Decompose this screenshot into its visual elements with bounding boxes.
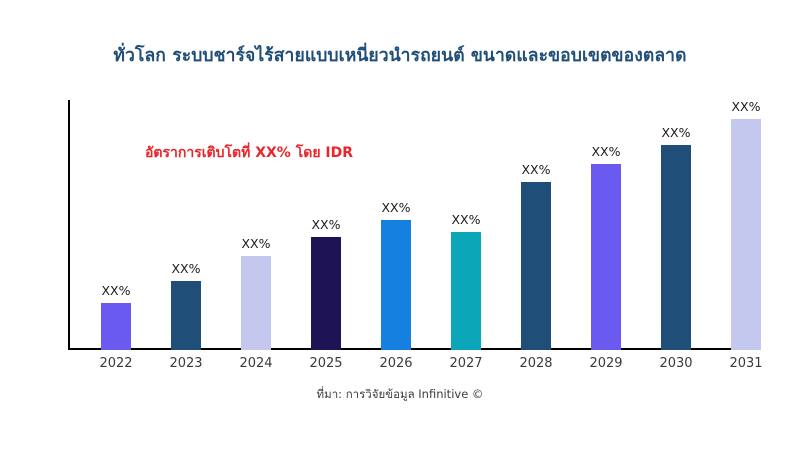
bar-value-label-2029: XX% [575, 144, 637, 159]
bar-2025[interactable] [311, 237, 341, 350]
plot-area: XX%XX%XX%XX%XX%XX%XX%XX%XX%XX% [68, 100, 735, 350]
bar-group: XX% [591, 100, 621, 350]
x-tick-label-2025: 2025 [295, 356, 357, 371]
bar-value-label-2031: XX% [715, 99, 777, 114]
x-tick-label-2029: 2029 [575, 356, 637, 371]
bar-value-label-2027: XX% [435, 212, 497, 227]
bar-2028[interactable] [521, 182, 551, 350]
source-note: ที่มา: การวิจัยข้อมูล Infinitive © [0, 386, 800, 404]
x-tick-label-2026: 2026 [365, 356, 427, 371]
bar-value-label-2026: XX% [365, 200, 427, 215]
bar-2031[interactable] [731, 119, 761, 350]
x-tick-label-2028: 2028 [505, 356, 567, 371]
bar-2024[interactable] [241, 256, 271, 350]
x-tick-label-2024: 2024 [225, 356, 287, 371]
bars-layer: XX%XX%XX%XX%XX%XX%XX%XX%XX%XX% [68, 100, 800, 350]
bar-value-label-2023: XX% [155, 261, 217, 276]
bar-value-label-2024: XX% [225, 236, 287, 251]
x-tick-label-2027: 2027 [435, 356, 497, 371]
chart-figure: ทั่วโลก ระบบชาร์จไร้สายแบบเหนี่ยวนำรถยนต… [0, 0, 800, 450]
bar-2030[interactable] [661, 145, 691, 350]
bar-group: XX% [451, 100, 481, 350]
bar-value-label-2025: XX% [295, 217, 357, 232]
bar-group: XX% [241, 100, 271, 350]
bar-2027[interactable] [451, 232, 481, 350]
bar-group: XX% [171, 100, 201, 350]
bar-value-label-2028: XX% [505, 162, 567, 177]
x-tick-label-2030: 2030 [645, 356, 707, 371]
x-tick-label-2031: 2031 [715, 356, 777, 371]
bar-group: XX% [661, 100, 691, 350]
bar-group: XX% [381, 100, 411, 350]
bar-value-label-2022: XX% [85, 283, 147, 298]
growth-rate-annotation: อัตราการเติบโตที่ XX% โดย IDR [145, 142, 353, 164]
x-tick-label-2022: 2022 [85, 356, 147, 371]
x-axis-tick-labels: 2022202320242025202620272028202920302031 [68, 356, 800, 378]
bar-2029[interactable] [591, 164, 621, 350]
bar-2023[interactable] [171, 281, 201, 350]
bar-2022[interactable] [101, 303, 131, 350]
bar-group: XX% [731, 100, 761, 350]
bar-value-label-2030: XX% [645, 125, 707, 140]
bar-group: XX% [311, 100, 341, 350]
x-tick-label-2023: 2023 [155, 356, 217, 371]
chart-title: ทั่วโลก ระบบชาร์จไร้สายแบบเหนี่ยวนำรถยนต… [0, 41, 800, 69]
bar-group: XX% [521, 100, 551, 350]
bar-group: XX% [101, 100, 131, 350]
bar-2026[interactable] [381, 220, 411, 350]
